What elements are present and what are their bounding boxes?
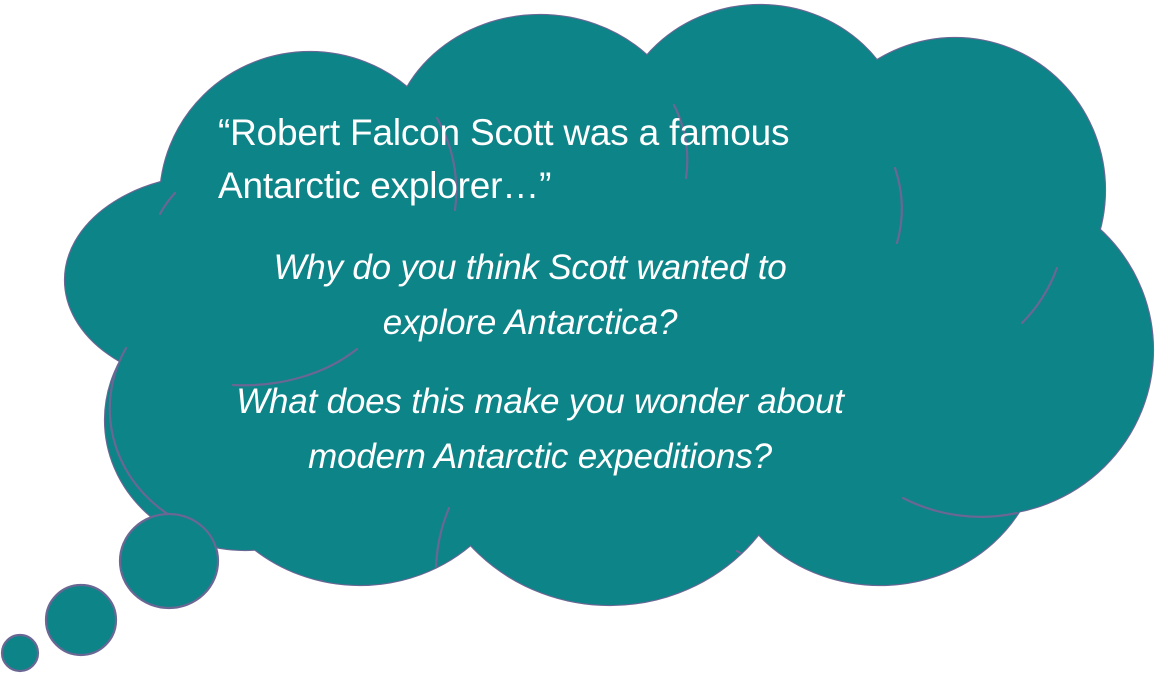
tail-bubble-medium — [46, 585, 116, 655]
thought-bubble-graphic — [0, 0, 1155, 674]
thought-tail — [2, 514, 218, 671]
tail-bubble-large — [120, 514, 218, 608]
cloud-fill — [65, 5, 1153, 605]
slide-canvas: “Robert Falcon Scott was a famous Antarc… — [0, 0, 1155, 674]
tail-bubble-small — [2, 635, 38, 671]
